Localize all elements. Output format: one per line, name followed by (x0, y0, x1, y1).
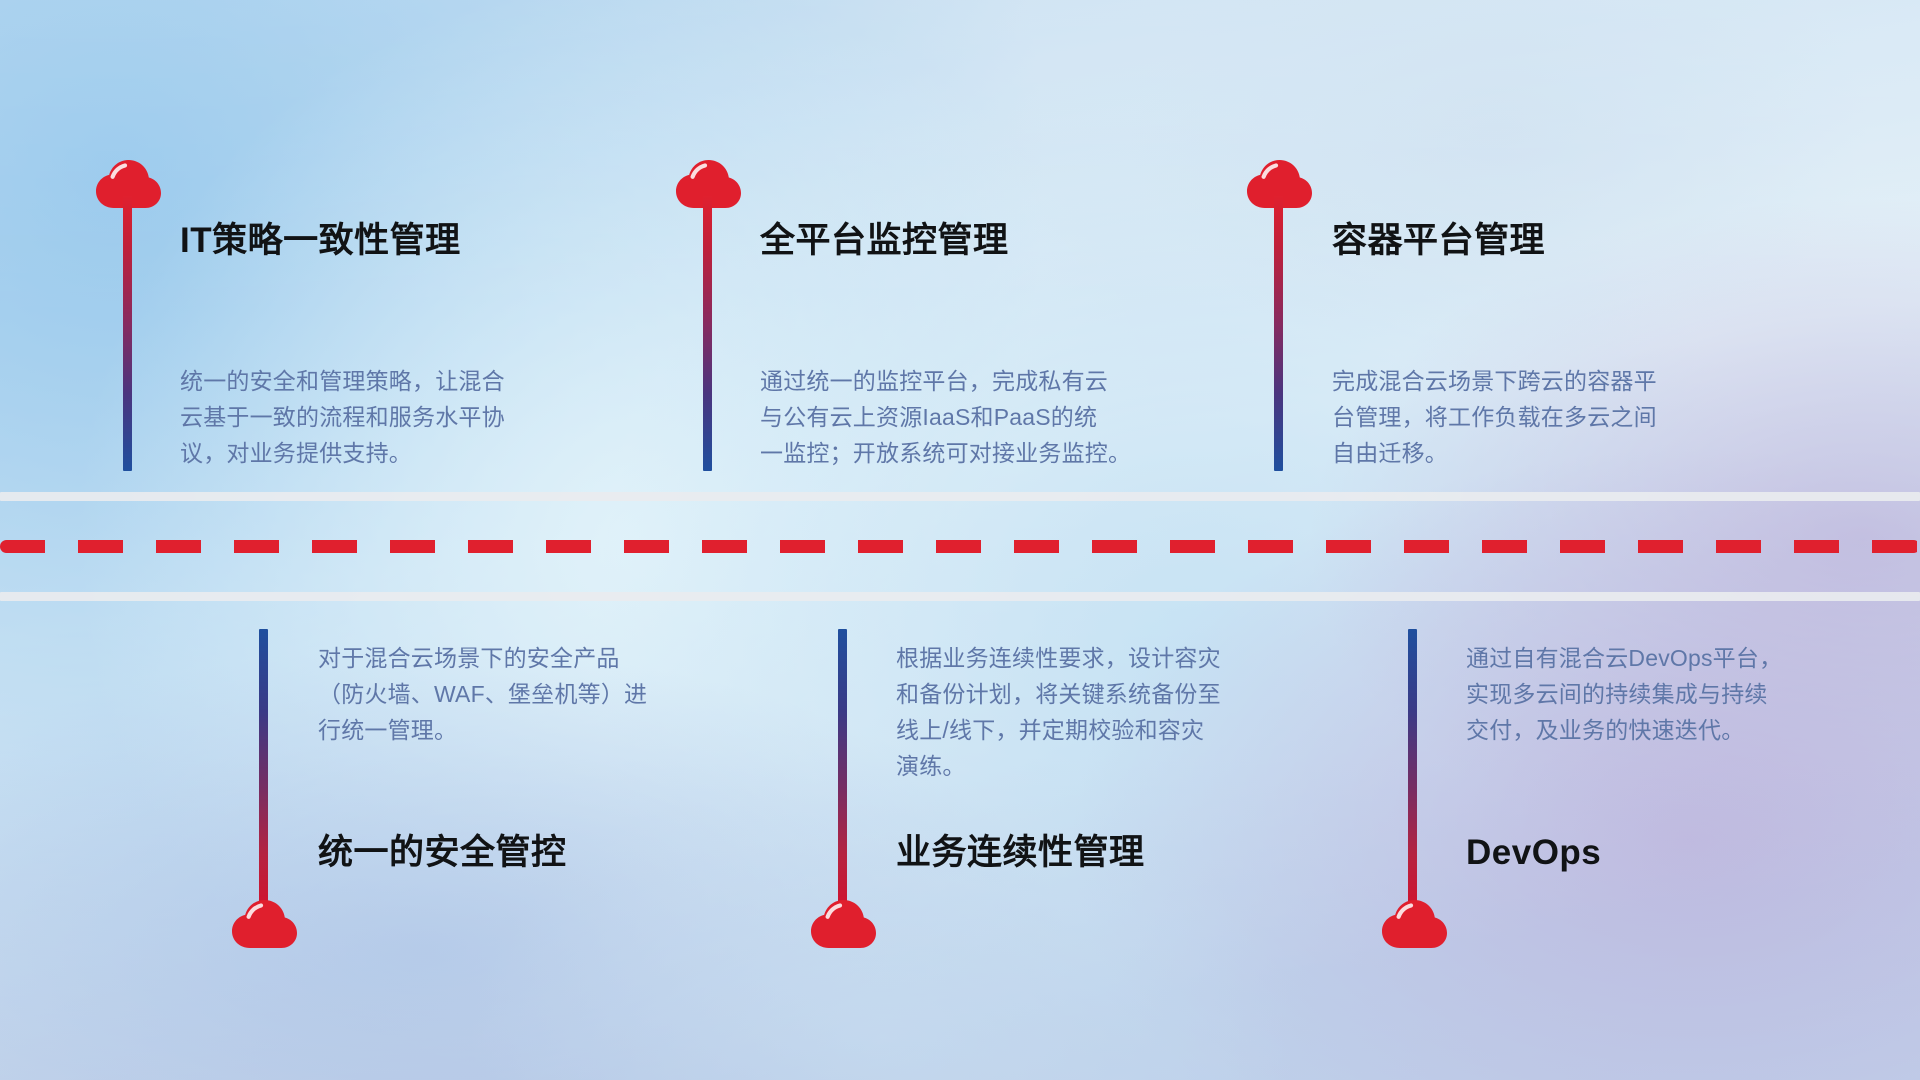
divider-rule-top (0, 492, 1920, 501)
timeline-bar-it-policy (123, 196, 132, 471)
heading-full-platform-monitoring: 全平台监控管理 (760, 223, 1009, 258)
body-devops: 通过自有混合云DevOps平台， 实现多云间的持续集成与持续 交付，及业务的快速… (1466, 640, 1906, 748)
timeline-bar-business-continuity (838, 629, 847, 904)
body-unified-security-control: 对于混合云场景下的安全产品 （防火墙、WAF、堡垒机等）进 行统一管理。 (318, 640, 758, 748)
cloud-icon (809, 898, 877, 950)
divider-rule-bottom (0, 592, 1920, 601)
cloud-icon (230, 898, 298, 950)
cloud-icon (1380, 898, 1448, 950)
body-business-continuity-management: 根据业务连续性要求，设计容灾 和备份计划，将关键系统备份至 线上/线下，并定期校… (896, 640, 1346, 784)
heading-unified-security-control: 统一的安全管控 (318, 835, 567, 870)
timeline-bar-monitoring (703, 196, 712, 471)
timeline-bar-security-control (259, 629, 268, 904)
heading-business-continuity-management: 业务连续性管理 (896, 835, 1145, 870)
heading-it-policy-consistency: IT策略一致性管理 (180, 223, 461, 258)
timeline-bar-container-platform (1274, 196, 1283, 471)
heading-container-platform-management: 容器平台管理 (1332, 223, 1545, 258)
divider-dashed-line (0, 540, 1920, 553)
infographic-stage: IT策略一致性管理 统一的安全和管理策略，让混合 云基于一致的流程和服务水平协 … (0, 0, 1920, 1080)
body-it-policy-consistency: 统一的安全和管理策略，让混合 云基于一致的流程和服务水平协 议，对业务提供支持。 (180, 363, 620, 471)
timeline-bar-devops (1408, 629, 1417, 904)
body-full-platform-monitoring: 通过统一的监控平台，完成私有云 与公有云上资源IaaS和PaaS的统 一监控；开… (760, 363, 1220, 471)
heading-devops: DevOps (1466, 835, 1601, 870)
body-container-platform-management: 完成混合云场景下跨云的容器平 台管理，将工作负载在多云之间 自由迁移。 (1332, 363, 1782, 471)
